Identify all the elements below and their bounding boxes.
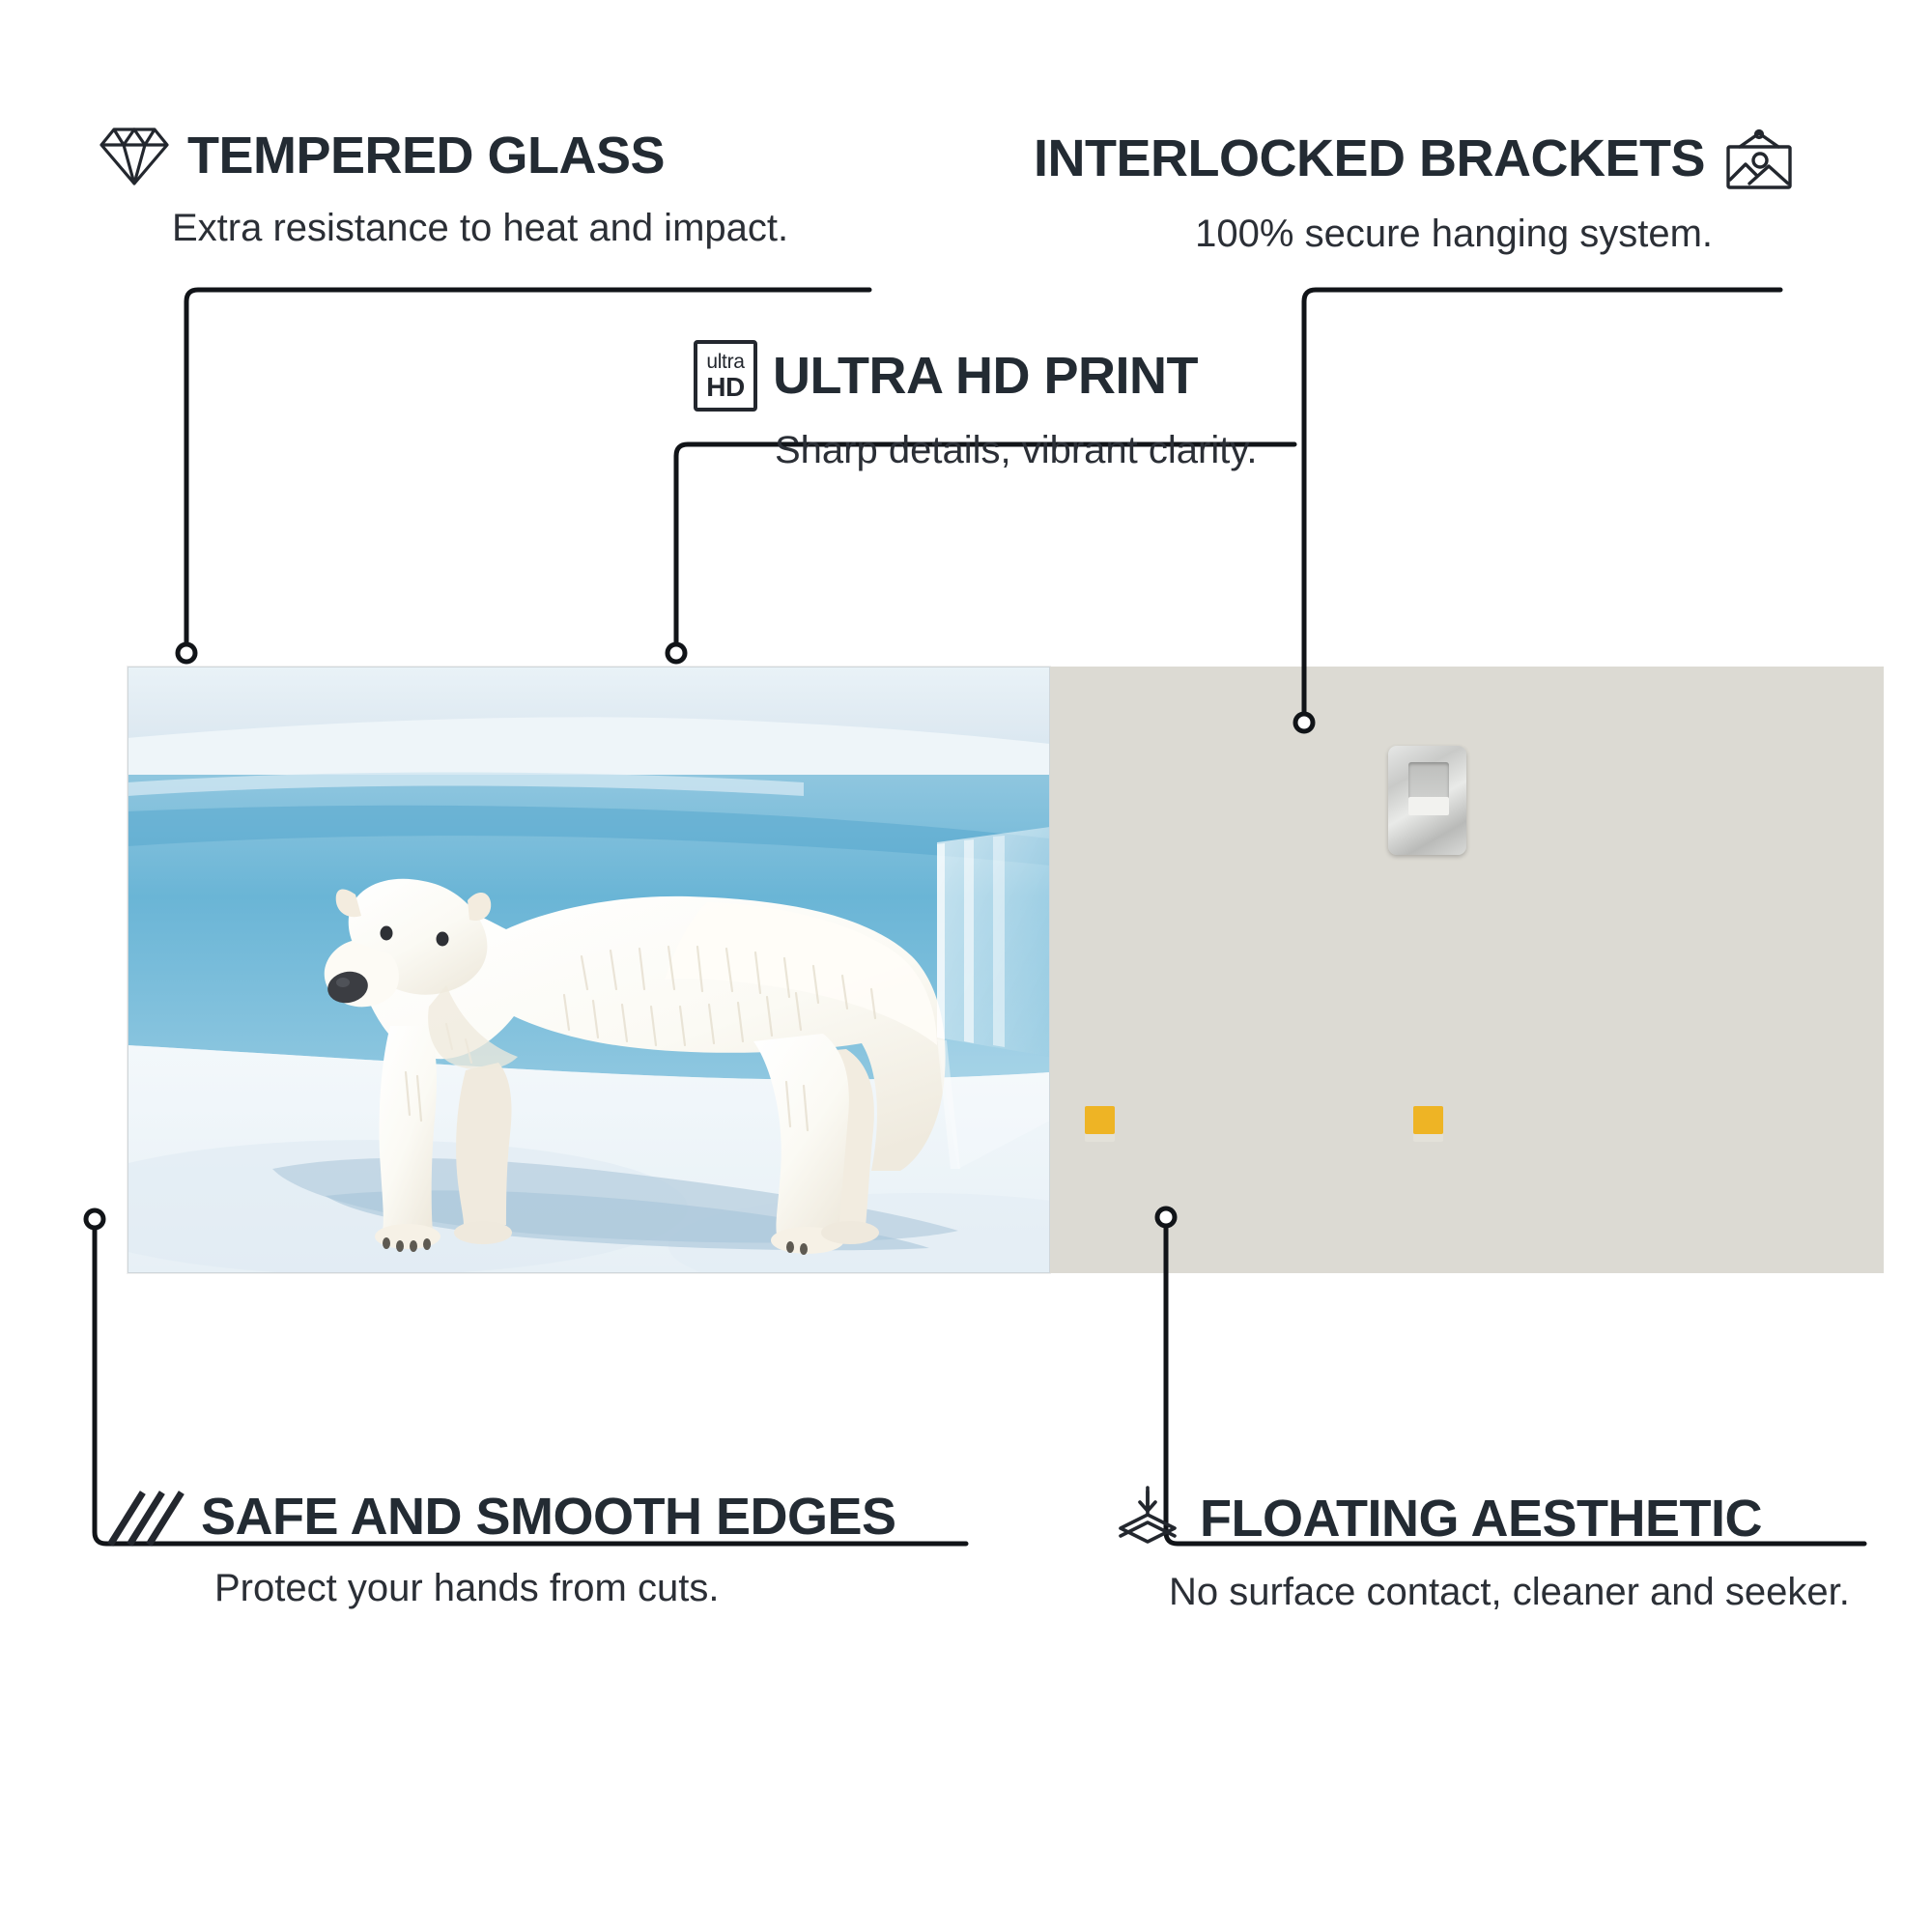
diamond-icon [97,124,172,187]
polar-bear-photo [128,667,1050,1273]
bracket-slot-inner [1408,797,1450,815]
hanging-bracket [1388,746,1467,855]
feature-title: SAFE AND SMOOTH EDGES [201,1491,896,1543]
spacer-pad-left [1085,1106,1115,1134]
spacer-pad-right [1413,1106,1443,1134]
callout-dot-ultra-hd [668,644,685,662]
feature-subtitle: Extra resistance to heat and impact. [172,209,788,247]
ultra-hd-icon: ultra HD [694,340,757,412]
feature-title: INTERLOCKED BRACKETS [1034,132,1705,185]
leader-interlocked-brackets [1304,290,1780,713]
product-front-panel [128,667,1050,1273]
infographic-canvas: TEMPERED GLASS Extra resistance to heat … [0,0,1932,1932]
feature-tempered-glass: TEMPERED GLASS Extra resistance to heat … [97,124,788,247]
callout-dot-safe-edges [86,1210,103,1228]
glass-reflection [937,827,1050,1169]
feature-title: ULTRA HD PRINT [773,350,1198,402]
ultra-hd-icon-bottom: HD [706,374,744,401]
leader-ultra-hd [676,444,1294,645]
feature-subtitle: No surface contact, cleaner and seeker. [1169,1573,1850,1611]
arrow-into-layer-icon [1111,1486,1184,1551]
hanging-picture-icon [1720,124,1798,193]
feature-subtitle: 100% secure hanging system. [1034,214,1713,253]
diagonal-stripes-icon [106,1486,185,1548]
feature-subtitle: Sharp details, vibrant clarity. [775,431,1257,469]
feature-subtitle: Protect your hands from cuts. [214,1569,896,1607]
feature-floating-aesthetic: FLOATING AESTHETIC No surface contact, c… [1111,1486,1850,1611]
product-back-panel [1050,667,1884,1273]
feature-ultra-hd-print: ultra HD ULTRA HD PRINT Sharp details, v… [694,340,1257,469]
callout-dot-tempered-glass [178,644,195,662]
feature-title: FLOATING AESTHETIC [1200,1492,1762,1545]
feature-title: TEMPERED GLASS [187,129,665,182]
feature-interlocked-brackets: INTERLOCKED BRACKETS 100% secure hanging… [1034,124,1798,253]
ultra-hd-icon-top: ultra [706,352,744,372]
feature-safe-and-smooth-edges: SAFE AND SMOOTH EDGES Protect your hands… [106,1486,896,1607]
